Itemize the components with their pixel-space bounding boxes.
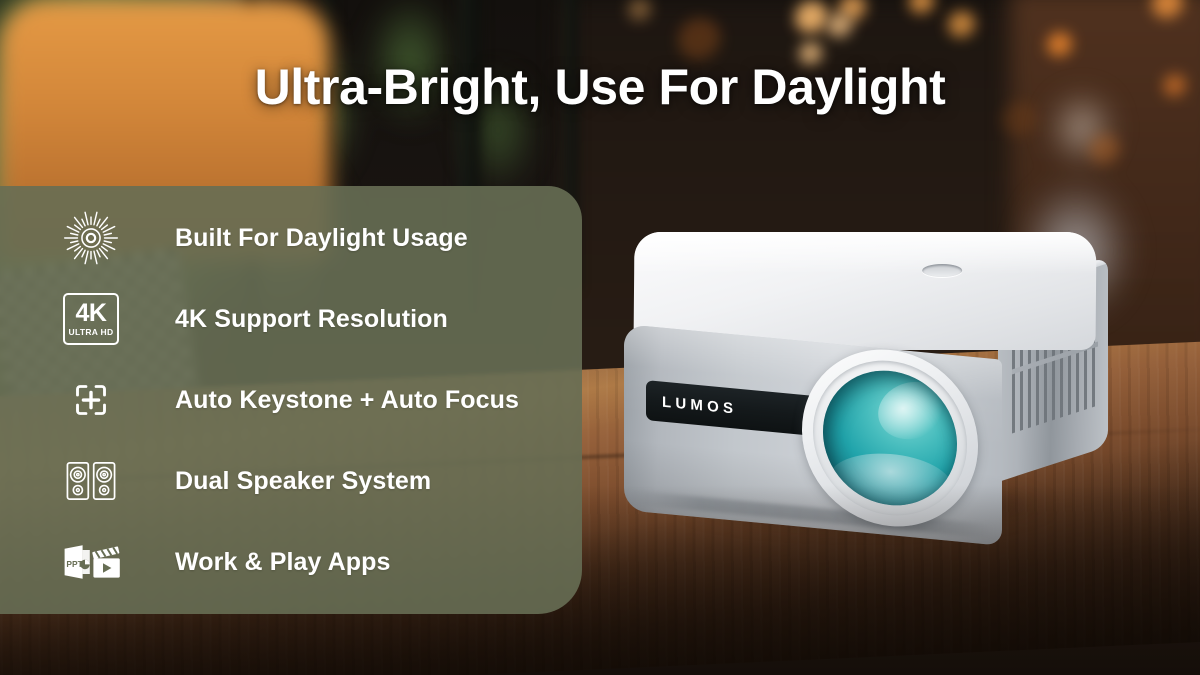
bokeh-light [795,1,829,35]
brand-logo-text: LUMOS [662,393,737,417]
feature-row: Built For Daylight Usage [60,208,468,268]
feature-list-panel: Built For Daylight Usage4KULTRA HD4K Sup… [0,186,582,614]
bokeh-light [948,11,976,39]
feature-label: Work & Play Apps [175,548,391,577]
dual-speaker-icon [60,451,122,511]
product-banner: LUMOS Ultra-Bright, Use For Daylight Bui… [0,0,1200,675]
projector-top-highlight [634,232,1096,274]
sun-rays-icon [60,208,122,268]
bokeh-light [1089,134,1121,166]
bokeh-light [1047,32,1073,58]
bokeh-light [678,18,722,62]
feature-row: Auto Keystone + Auto Focus [60,370,519,430]
feature-label: 4K Support Resolution [175,305,448,334]
feature-label: Built For Daylight Usage [175,224,468,253]
badge-4k-main: 4K [76,301,107,326]
power-button[interactable] [922,264,962,277]
page-title: Ultra-Bright, Use For Daylight [0,58,1200,116]
4k-ultra-hd-badge-icon: 4KULTRA HD [60,289,122,349]
feature-row: 4KULTRA HD4K Support Resolution [60,289,448,349]
badge-4k: 4KULTRA HD [63,293,119,345]
feature-row: Dual Speaker System [60,451,431,511]
bokeh-light [827,13,853,39]
feature-label: Dual Speaker System [175,467,431,496]
feature-rows: Built For Daylight Usage4KULTRA HD4K Sup… [0,186,582,614]
ppt-and-clapperboard-icon: PPT [60,532,122,592]
feature-label: Auto Keystone + Auto Focus [175,386,519,415]
focus-frame-plus-icon [60,370,122,430]
badge-4k-sub: ULTRA HD [69,328,114,337]
feature-row: PPTWork & Play Apps [60,532,391,592]
